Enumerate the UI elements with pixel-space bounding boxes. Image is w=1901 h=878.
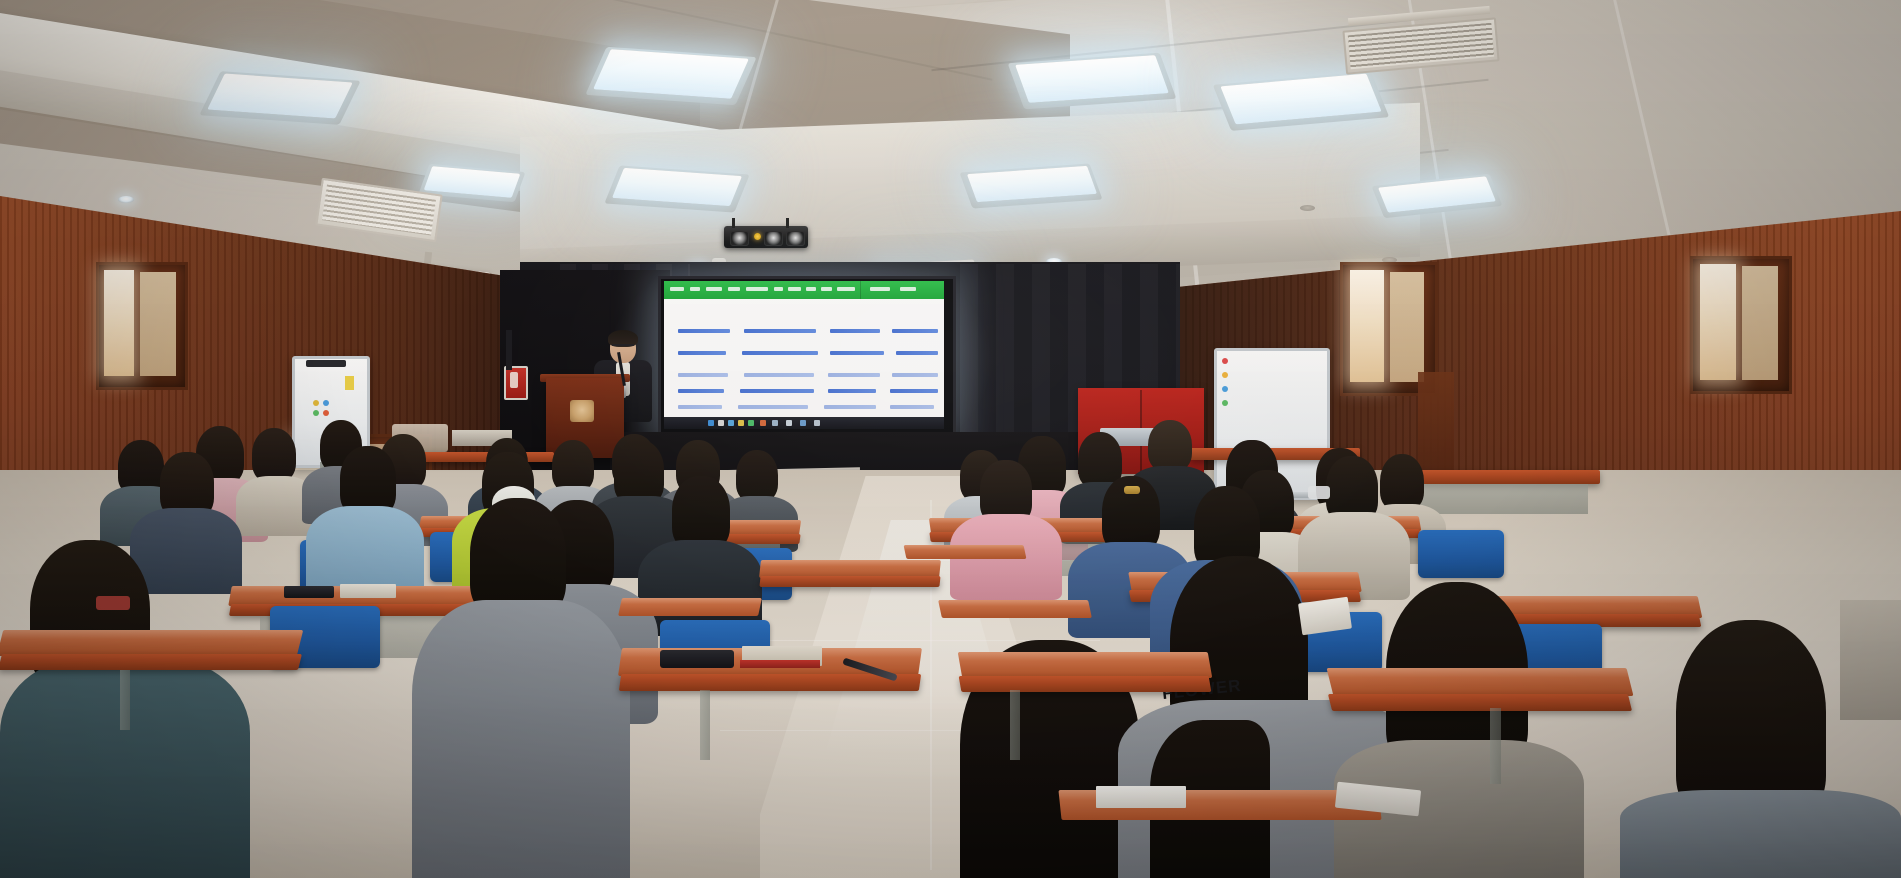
table-row-cell bbox=[678, 329, 730, 333]
student-desk-edge bbox=[759, 576, 940, 587]
header-cell bbox=[728, 287, 740, 291]
notebook bbox=[340, 584, 396, 598]
student-desk bbox=[1400, 470, 1600, 484]
spotlight-lamp bbox=[764, 231, 783, 246]
desk-leg bbox=[700, 690, 710, 760]
header-cell bbox=[690, 287, 700, 291]
table-row-cell bbox=[828, 373, 880, 377]
student-desk-edge bbox=[959, 676, 1212, 692]
student-desk-edge bbox=[1328, 694, 1632, 711]
table-row-cell bbox=[896, 351, 938, 355]
magnet-icon bbox=[313, 410, 319, 416]
window-far-right-pane bbox=[1742, 266, 1778, 380]
face-mask-icon bbox=[1308, 486, 1330, 499]
blue-classroom-chair[interactable] bbox=[1418, 530, 1504, 578]
magnet-icon bbox=[1222, 386, 1228, 392]
student-head bbox=[552, 440, 594, 492]
notebook bbox=[1096, 786, 1186, 808]
table-row-cell bbox=[740, 389, 814, 393]
eyeglasses-icon bbox=[612, 344, 634, 351]
desk-leg bbox=[1490, 708, 1501, 784]
student-head bbox=[614, 440, 664, 504]
student-desk-edge bbox=[0, 654, 302, 670]
header-cell bbox=[837, 287, 855, 291]
student-head bbox=[252, 428, 296, 482]
smartphone bbox=[660, 650, 734, 668]
spotlight-indicator bbox=[754, 233, 761, 240]
student-head bbox=[672, 476, 730, 550]
taskbar-icon[interactable] bbox=[708, 420, 714, 426]
header-cell bbox=[746, 287, 768, 291]
classroom-photo-scene: FLOWER bbox=[0, 0, 1901, 878]
table-row-cell bbox=[890, 389, 938, 393]
taskbar-icon[interactable] bbox=[738, 420, 744, 426]
spotlight-bar-hanger bbox=[732, 218, 735, 228]
student-desk bbox=[618, 598, 762, 616]
sticky-note-icon bbox=[345, 376, 354, 390]
student-head bbox=[1148, 420, 1192, 472]
taskbar-icon[interactable] bbox=[728, 420, 734, 426]
table-row-cell bbox=[830, 351, 884, 355]
header-cell bbox=[788, 287, 801, 291]
magnet-icon bbox=[1222, 372, 1228, 378]
smartphone bbox=[284, 586, 334, 598]
table-row-cell bbox=[744, 329, 816, 333]
student-desk bbox=[904, 545, 1027, 559]
table-row-cell bbox=[828, 389, 876, 393]
student-head bbox=[1380, 454, 1424, 510]
notebook-cover bbox=[740, 660, 820, 668]
window-far-right-pane bbox=[1700, 264, 1736, 380]
taskbar-icon[interactable] bbox=[718, 420, 724, 426]
student-body bbox=[412, 600, 630, 878]
window-right-pane bbox=[1390, 272, 1424, 382]
header-cell bbox=[821, 287, 832, 291]
taskbar-icon[interactable] bbox=[814, 420, 820, 426]
table-row-cell bbox=[890, 405, 934, 409]
taskbar-icon[interactable] bbox=[772, 420, 778, 426]
table-row-cell bbox=[678, 389, 724, 393]
table-row-cell bbox=[738, 405, 808, 409]
table-row-cell bbox=[830, 329, 880, 333]
table-row-cell bbox=[892, 373, 938, 377]
spreadsheet-column-divider bbox=[860, 281, 861, 299]
table-row-cell bbox=[678, 405, 722, 409]
window-left-pane bbox=[104, 270, 134, 376]
student-desk bbox=[0, 630, 303, 656]
spotlight-lamp bbox=[786, 231, 805, 246]
table-row-cell bbox=[678, 373, 728, 377]
header-cell bbox=[870, 287, 890, 291]
stage-spotlight-bar bbox=[724, 226, 808, 248]
whiteboard-clip bbox=[306, 360, 346, 367]
wall-edge bbox=[1840, 600, 1901, 720]
header-cell bbox=[774, 287, 783, 291]
recessed-downlight bbox=[118, 196, 134, 203]
desk-leg bbox=[1010, 690, 1020, 760]
student-body bbox=[130, 508, 242, 594]
header-cell bbox=[706, 287, 722, 291]
recessed-downlight bbox=[1300, 205, 1315, 211]
table-row-cell bbox=[744, 373, 814, 377]
eyeglasses-icon bbox=[96, 596, 130, 610]
student-desk bbox=[938, 600, 1092, 618]
table-row-cell bbox=[824, 405, 876, 409]
table-row-cell bbox=[678, 351, 726, 355]
taskbar-icon[interactable] bbox=[800, 420, 806, 426]
desk-leg bbox=[120, 670, 130, 730]
sign-post bbox=[506, 330, 512, 370]
hair-clip-icon bbox=[1124, 486, 1140, 494]
table-row-cell bbox=[892, 329, 938, 333]
projection-screen bbox=[664, 281, 944, 429]
student-desk bbox=[1327, 668, 1634, 696]
header-cell bbox=[670, 287, 684, 291]
magnet-icon bbox=[323, 400, 329, 406]
window-right-pane bbox=[1350, 270, 1384, 382]
fire-extinguisher-icon bbox=[510, 372, 518, 388]
header-cell bbox=[900, 287, 916, 291]
institution-crest-icon bbox=[570, 400, 594, 422]
student-desk-edge bbox=[619, 674, 921, 691]
table-row-cell bbox=[742, 351, 818, 355]
window-left-pane bbox=[140, 272, 176, 376]
student-body bbox=[1620, 790, 1901, 878]
taskbar-icon[interactable] bbox=[786, 420, 792, 426]
magnet-icon bbox=[323, 410, 329, 416]
student-desk bbox=[958, 652, 1213, 678]
windows-taskbar[interactable] bbox=[664, 417, 944, 429]
student-head bbox=[736, 450, 778, 502]
header-cell bbox=[806, 287, 816, 291]
spotlight-lamp bbox=[730, 231, 749, 246]
magnet-icon bbox=[313, 400, 319, 406]
magnet-icon bbox=[1222, 400, 1228, 406]
spotlight-bar-hanger bbox=[786, 218, 789, 228]
taskbar-icon[interactable] bbox=[748, 420, 754, 426]
magnet-icon bbox=[1222, 358, 1228, 364]
student-desk bbox=[404, 452, 554, 462]
taskbar-icon[interactable] bbox=[760, 420, 766, 426]
